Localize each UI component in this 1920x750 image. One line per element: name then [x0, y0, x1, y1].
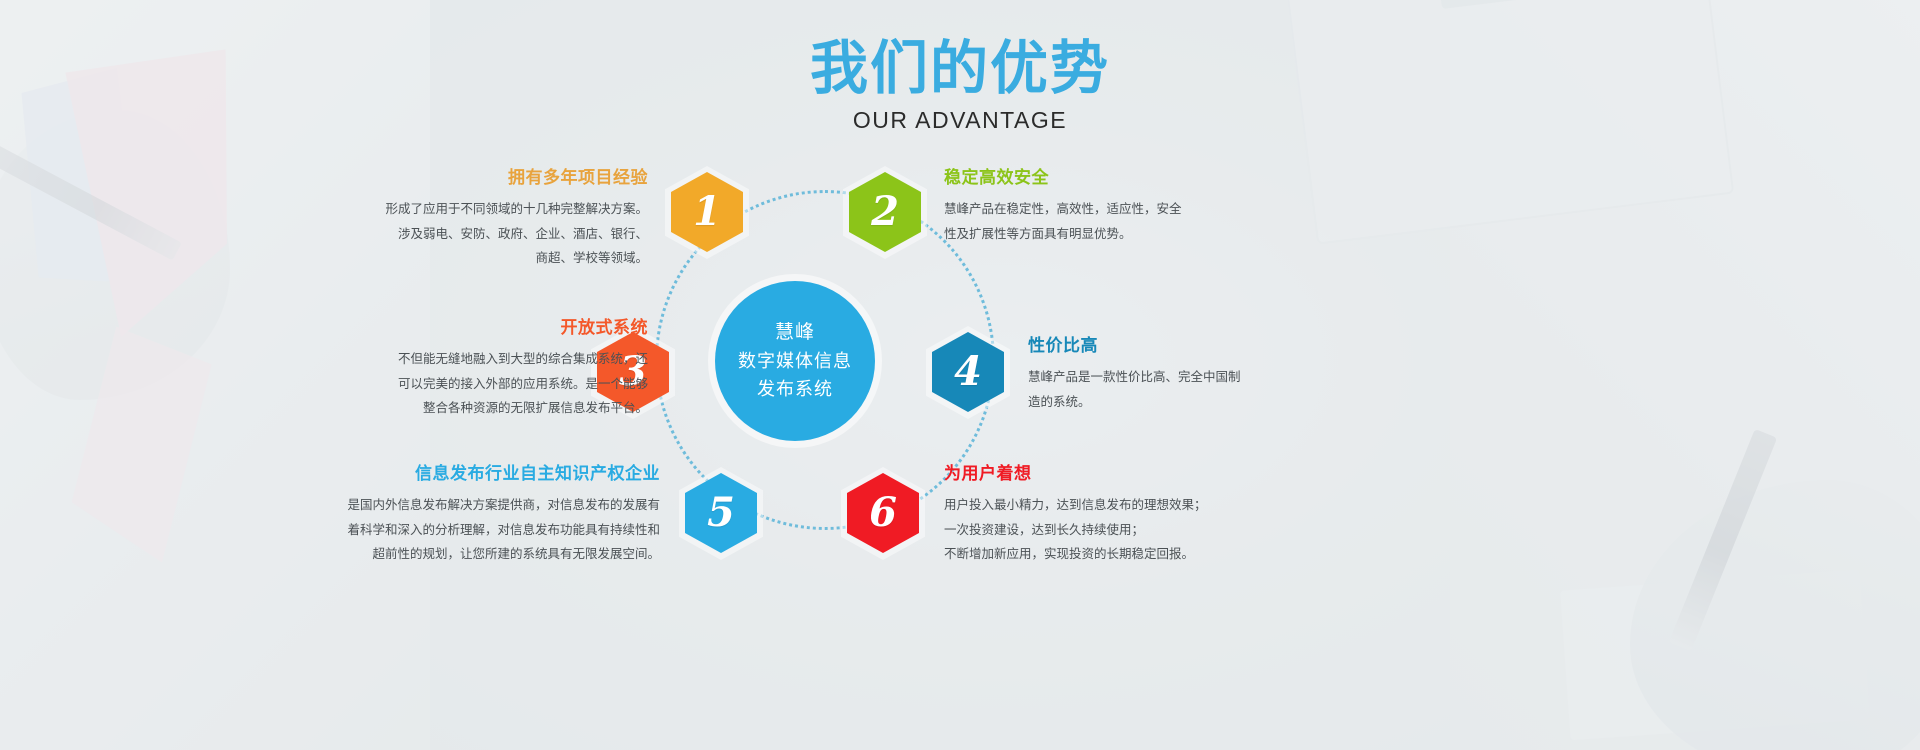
advantage-title-5: 信息发布行业自主知识产权企业: [318, 464, 660, 484]
advantage-body-1: 形成了应用于不同领域的十几种完整解决方案。 涉及弱电、安防、政府、企业、酒店、银…: [318, 197, 648, 270]
advantage-item-2: 稳定高效安全 慧峰产品在稳定性，高效性，适应性，安全 性及扩展性等方面具有明显优…: [944, 168, 1284, 246]
advantage-title-4: 性价比高: [1028, 336, 1348, 356]
advantage-body-5: 是国内外信息发布解决方案提供商，对信息发布的发展有 着科学和深入的分析理解，对信…: [318, 493, 660, 566]
advantage-item-4: 性价比高 慧峰产品是一款性价比高、完全中国制 造的系统。: [1028, 336, 1348, 414]
center-circle-line-2: 数字媒体信息: [738, 348, 852, 376]
advantage-body-line: 整合各种资源的无限扩展信息发布平台。: [318, 396, 648, 420]
advantage-body-3: 不但能无缝地融入到大型的综合集成系统，还 可以完美的接入外部的应用系统。是一个能…: [318, 347, 648, 420]
advantage-body-line: 着科学和深入的分析理解，对信息发布功能具有持续性和: [318, 518, 660, 542]
advantage-body-2: 慧峰产品在稳定性，高效性，适应性，安全 性及扩展性等方面具有明显优势。: [944, 197, 1284, 246]
advantage-title-1: 拥有多年项目经验: [318, 168, 648, 188]
advantage-body-line: 超前性的规划，让您所建的系统具有无限发展空间。: [318, 542, 660, 566]
hexagon-number-4: 4: [954, 348, 982, 395]
advantage-body-line: 涉及弱电、安防、政府、企业、酒店、银行、: [318, 222, 648, 246]
advantage-body-line: 可以完美的接入外部的应用系统。是一个能够: [318, 372, 648, 396]
advantage-body-line: 造的系统。: [1028, 390, 1348, 414]
center-circle-line-1: 慧峰: [775, 318, 815, 347]
advantage-item-3: 开放式系统 不但能无缝地融入到大型的综合集成系统，还 可以完美的接入外部的应用系…: [318, 318, 648, 421]
page-heading: 我们的优势 OUR ADVANTAGE: [0, 38, 1920, 134]
advantage-body-line: 性及扩展性等方面具有明显优势。: [944, 222, 1284, 246]
advantage-body-line: 慧峰产品在稳定性，高效性，适应性，安全: [944, 197, 1284, 221]
hexagon-number-2: 2: [871, 188, 899, 235]
advantage-item-5: 信息发布行业自主知识产权企业 是国内外信息发布解决方案提供商，对信息发布的发展有…: [318, 464, 660, 567]
center-circle-line-3: 发布系统: [757, 376, 833, 404]
advantage-body-line: 用户投入最小精力，达到信息发布的理想效果；: [944, 493, 1294, 517]
advantage-item-6: 为用户着想 用户投入最小精力，达到信息发布的理想效果； 一次投资建设，达到长久持…: [944, 464, 1294, 567]
hexagon-number-6: 6: [869, 489, 897, 536]
hexagon-number-5: 5: [707, 489, 735, 536]
advantage-body-line: 不但能无缝地融入到大型的综合集成系统，还: [318, 347, 648, 371]
hexagon-number-1: 1: [693, 188, 721, 235]
advantage-body-line: 不断增加新应用，实现投资的长期稳定回报。: [944, 542, 1294, 566]
advantage-title-6: 为用户着想: [944, 464, 1294, 484]
page-title-cn: 我们的优势: [0, 38, 1920, 99]
advantage-body-line: 商超、学校等领域。: [318, 246, 648, 270]
advantage-body-line: 慧峰产品是一款性价比高、完全中国制: [1028, 365, 1348, 389]
advantage-body-6: 用户投入最小精力，达到信息发布的理想效果； 一次投资建设，达到长久持续使用； 不…: [944, 493, 1294, 566]
advantage-infographic: 我们的优势 OUR ADVANTAGE 慧峰 数字媒体信息 发布系统 1 2 3…: [0, 0, 1920, 750]
advantage-title-3: 开放式系统: [318, 318, 648, 338]
advantage-body-4: 慧峰产品是一款性价比高、完全中国制 造的系统。: [1028, 365, 1348, 414]
advantage-item-1: 拥有多年项目经验 形成了应用于不同领域的十几种完整解决方案。 涉及弱电、安防、政…: [318, 168, 648, 271]
page-title-en: OUR ADVANTAGE: [0, 107, 1920, 134]
advantage-body-line: 一次投资建设，达到长久持续使用；: [944, 518, 1294, 542]
center-circle: 慧峰 数字媒体信息 发布系统: [715, 281, 875, 441]
advantage-body-line: 形成了应用于不同领域的十几种完整解决方案。: [318, 197, 648, 221]
advantage-title-2: 稳定高效安全: [944, 168, 1284, 188]
advantage-body-line: 是国内外信息发布解决方案提供商，对信息发布的发展有: [318, 493, 660, 517]
